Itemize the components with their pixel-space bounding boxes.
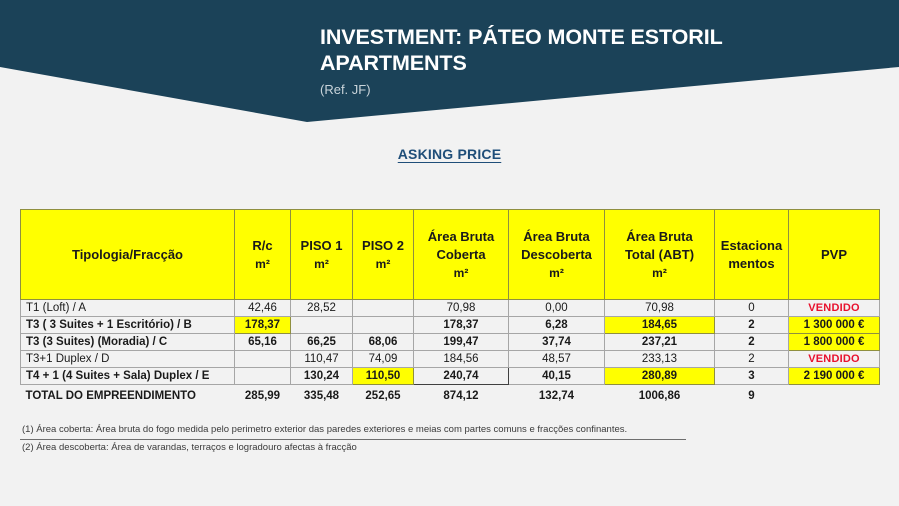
table-header-unit: m²	[418, 264, 504, 282]
cell-total-piso2: 252,65	[353, 385, 414, 405]
table-header-line: mentos	[719, 255, 784, 273]
table-header-line: PVP	[793, 246, 875, 264]
cell-descoberta: 6,28	[509, 317, 605, 334]
cell-estacionamentos: 3	[715, 368, 789, 385]
table-header-unit: m²	[609, 264, 710, 282]
table-row: T4 + 1 (4 Suites + Sala) Duplex / E130,2…	[21, 368, 880, 385]
asking-price-heading: ASKING PRICE	[0, 146, 899, 164]
table-header-unit: m²	[357, 255, 409, 273]
cell-piso1	[291, 317, 353, 334]
table-header-line: Descoberta	[513, 246, 600, 264]
table-header-line: Total (ABT)	[609, 246, 710, 264]
cell-tipologia: T3+1 Duplex / D	[21, 351, 235, 368]
table-header-line: PISO 1	[295, 237, 348, 255]
cell-total-descoberta: 132,74	[509, 385, 605, 405]
cell-total-estacionamentos: 9	[715, 385, 789, 405]
table-header-line: Estaciona	[719, 237, 784, 255]
cell-total-label: TOTAL DO EMPREENDIMENTO	[21, 385, 235, 405]
cell-total-piso1: 335,48	[291, 385, 353, 405]
table-header-line: Tipologia/Fracção	[25, 246, 230, 264]
table-header-line: Área Bruta	[609, 228, 710, 246]
cell-rc: 42,46	[235, 300, 291, 317]
cell-total_abt: 237,21	[605, 334, 715, 351]
cell-piso2	[353, 300, 414, 317]
footnote-1: (1) Área coberta: Área bruta do fogo med…	[20, 422, 686, 440]
cell-coberta: 184,56	[414, 351, 509, 368]
page-reference: (Ref. JF)	[320, 82, 840, 97]
table-header-total_abt: Área BrutaTotal (ABT)m²	[605, 210, 715, 300]
cell-coberta: 199,47	[414, 334, 509, 351]
cell-coberta: 240,74	[414, 368, 509, 385]
cell-piso1: 130,24	[291, 368, 353, 385]
table-header-pvp: PVP	[789, 210, 880, 300]
cell-tipologia: T1 (Loft) / A	[21, 300, 235, 317]
table-row: T3+1 Duplex / D110,4774,09184,5648,57233…	[21, 351, 880, 368]
cell-pvp: VENDIDO	[789, 351, 880, 368]
table-header-line: R/c	[239, 237, 286, 255]
cell-piso2: 74,09	[353, 351, 414, 368]
cell-tipologia: T3 (3 Suites) (Moradia) / C	[21, 334, 235, 351]
cell-coberta: 178,37	[414, 317, 509, 334]
cell-estacionamentos: 2	[715, 351, 789, 368]
cell-rc	[235, 368, 291, 385]
table-header-descoberta: Área BrutaDescobertam²	[509, 210, 605, 300]
cell-descoberta: 48,57	[509, 351, 605, 368]
table-header-line: PISO 2	[357, 237, 409, 255]
cell-estacionamentos: 2	[715, 334, 789, 351]
cell-piso2: 110,50	[353, 368, 414, 385]
table-header-piso1: PISO 1m²	[291, 210, 353, 300]
cell-piso2	[353, 317, 414, 334]
table-header-line: Área Bruta	[513, 228, 600, 246]
table-header-coberta: Área BrutaCobertam²	[414, 210, 509, 300]
table-header-line: Coberta	[418, 246, 504, 264]
cell-total-total_abt: 1006,86	[605, 385, 715, 405]
header-text-block: INVESTMENT: PÁTEO MONTE ESTORIL APARTMEN…	[320, 24, 840, 97]
cell-rc	[235, 351, 291, 368]
header-banner: INVESTMENT: PÁTEO MONTE ESTORIL APARTMEN…	[0, 0, 899, 125]
cell-tipologia: T4 + 1 (4 Suites + Sala) Duplex / E	[21, 368, 235, 385]
table-header-piso2: PISO 2m²	[353, 210, 414, 300]
cell-piso1: 28,52	[291, 300, 353, 317]
cell-descoberta: 0,00	[509, 300, 605, 317]
cell-descoberta: 37,74	[509, 334, 605, 351]
cell-piso1: 66,25	[291, 334, 353, 351]
asking-price-table: Tipologia/FracçãoR/cm²PISO 1m²PISO 2m²Ár…	[20, 209, 880, 405]
cell-total_abt: 70,98	[605, 300, 715, 317]
table-header-estacionamentos: Estacionamentos	[715, 210, 789, 300]
cell-estacionamentos: 2	[715, 317, 789, 334]
cell-rc: 65,16	[235, 334, 291, 351]
cell-descoberta: 40,15	[509, 368, 605, 385]
page-title: INVESTMENT: PÁTEO MONTE ESTORIL APARTMEN…	[320, 24, 840, 76]
table-header-line: Área Bruta	[418, 228, 504, 246]
asking-price-label: ASKING PRICE	[398, 146, 502, 162]
cell-total-coberta: 874,12	[414, 385, 509, 405]
cell-total-rc: 285,99	[235, 385, 291, 405]
cell-rc: 178,37	[235, 317, 291, 334]
cell-pvp: VENDIDO	[789, 300, 880, 317]
cell-pvp: 1 300 000 €	[789, 317, 880, 334]
cell-coberta: 70,98	[414, 300, 509, 317]
table-row: T1 (Loft) / A42,4628,5270,980,0070,980VE…	[21, 300, 880, 317]
footnote-2: (2) Área descoberta: Área de varandas, t…	[20, 440, 686, 458]
table-header-tipologia: Tipologia/Fracção	[21, 210, 235, 300]
cell-total_abt: 280,89	[605, 368, 715, 385]
cell-total_abt: 184,65	[605, 317, 715, 334]
cell-pvp: 2 190 000 €	[789, 368, 880, 385]
cell-piso1: 110,47	[291, 351, 353, 368]
footnotes: (1) Área coberta: Área bruta do fogo med…	[20, 422, 686, 458]
table-header-row: Tipologia/FracçãoR/cm²PISO 1m²PISO 2m²Ár…	[21, 210, 880, 300]
table-row: T3 (3 Suites) (Moradia) / C65,1666,2568,…	[21, 334, 880, 351]
table-row: T3 ( 3 Suites + 1 Escritório) / B178,371…	[21, 317, 880, 334]
table-header-unit: m²	[513, 264, 600, 282]
cell-tipologia: T3 ( 3 Suites + 1 Escritório) / B	[21, 317, 235, 334]
cell-total_abt: 233,13	[605, 351, 715, 368]
table-header-unit: m²	[239, 255, 286, 273]
table-header-unit: m²	[295, 255, 348, 273]
cell-pvp: 1 800 000 €	[789, 334, 880, 351]
table-total-row: TOTAL DO EMPREENDIMENTO285,99335,48252,6…	[21, 385, 880, 405]
cell-estacionamentos: 0	[715, 300, 789, 317]
cell-total-pvp	[789, 385, 880, 405]
cell-piso2: 68,06	[353, 334, 414, 351]
table-header-rc: R/cm²	[235, 210, 291, 300]
